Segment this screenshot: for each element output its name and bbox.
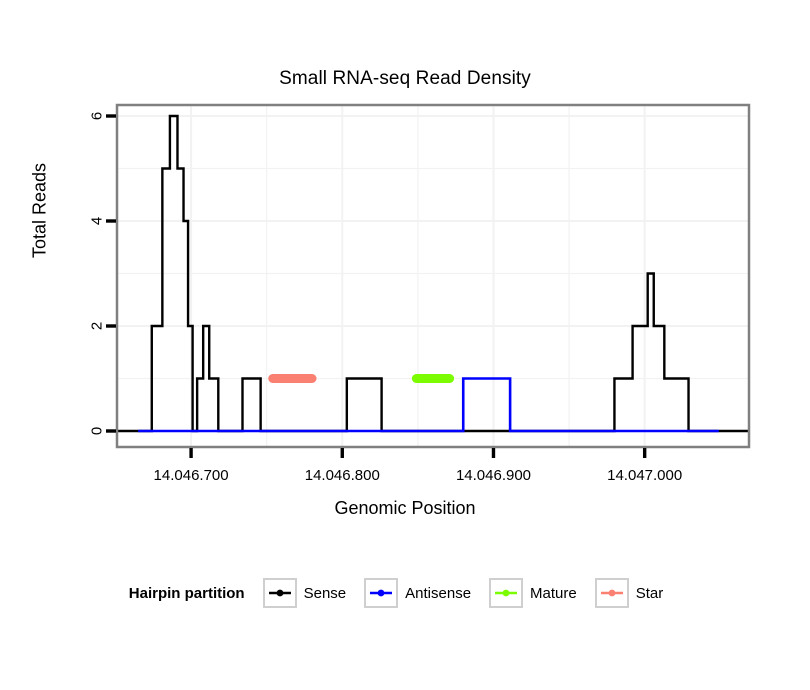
legend-item-star[interactable]: Star: [595, 578, 678, 608]
plot-area: 14,046,70014,046,80014,046,90014,047,000…: [0, 0, 810, 480]
y-tick-label: 4: [89, 217, 106, 225]
legend-item-label: Mature: [530, 585, 577, 602]
legend-item-label: Antisense: [405, 585, 471, 602]
legend-key-icon: [489, 578, 523, 608]
x-tick-label: 14,046,700: [154, 467, 229, 480]
figure-canvas: Small RNA-seq Read Density Total Reads 1…: [0, 0, 810, 690]
legend-item-mature[interactable]: Mature: [489, 578, 591, 608]
y-tick-label: 2: [89, 322, 106, 330]
x-tick-label: 14,046,800: [305, 467, 380, 480]
legend-item-label: Star: [636, 585, 664, 602]
y-tick-label: 0: [89, 427, 106, 435]
y-tick-label: 6: [89, 112, 106, 120]
legend-title: Hairpin partition: [129, 585, 245, 602]
legend-key-icon: [364, 578, 398, 608]
x-tick-label: 14,046,900: [456, 467, 531, 480]
legend-item-antisense[interactable]: Antisense: [364, 578, 485, 608]
legend-item-sense[interactable]: Sense: [263, 578, 361, 608]
x-axis-label: Genomic Position: [0, 498, 810, 519]
legend: Hairpin partition SenseAntisenseMatureSt…: [0, 578, 810, 608]
legend-item-label: Sense: [304, 585, 347, 602]
x-tick-label: 14,047,000: [607, 467, 682, 480]
legend-key-icon: [595, 578, 629, 608]
legend-key-icon: [263, 578, 297, 608]
